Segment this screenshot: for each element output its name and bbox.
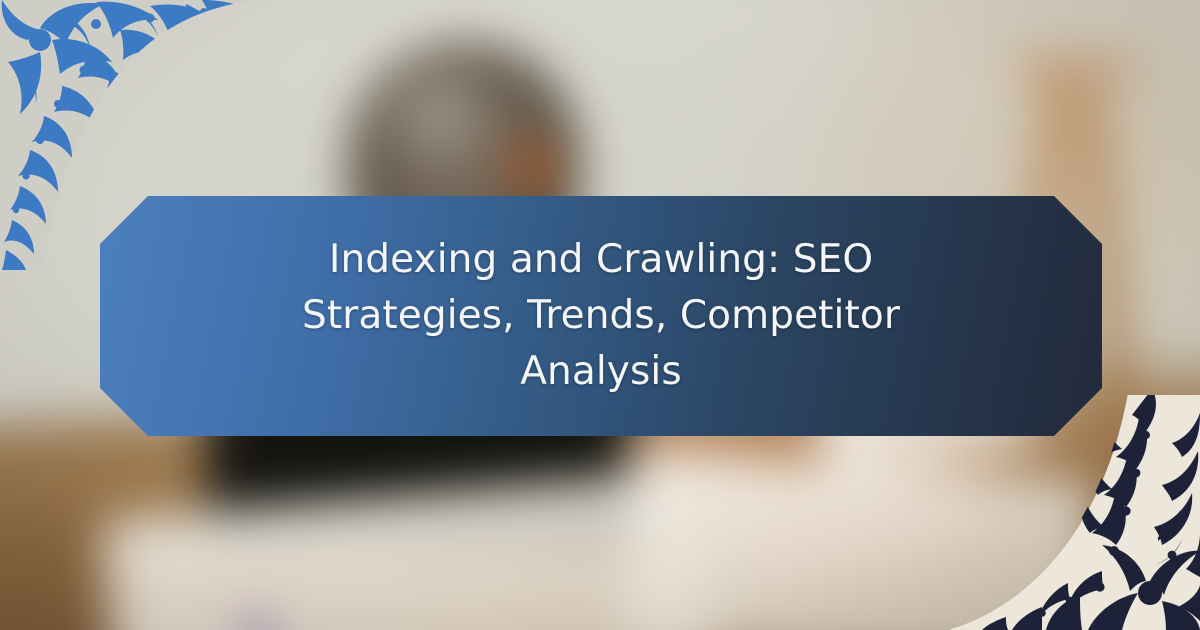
title-banner: Indexing and Crawling: SEO Strategies, T… (100, 196, 1102, 436)
page-title: Indexing and Crawling: SEO Strategies, T… (251, 232, 951, 400)
share-card: Indexing and Crawling: SEO Strategies, T… (0, 0, 1200, 630)
